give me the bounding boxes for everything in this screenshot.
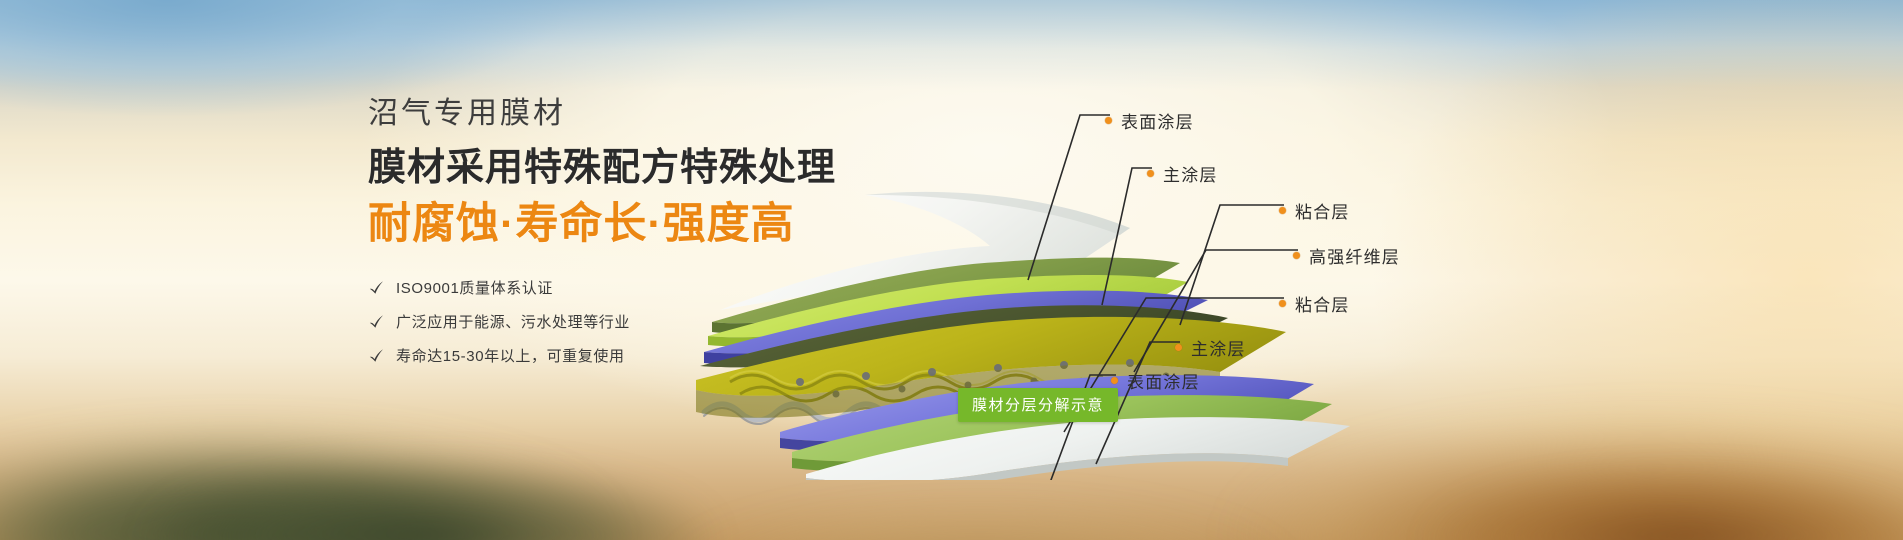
- callout-dot-icon: [1279, 207, 1286, 214]
- callout-label: 表面涂层: [1127, 368, 1200, 393]
- callout-dot-icon: [1279, 300, 1286, 307]
- callout-dot-icon: [1105, 117, 1112, 124]
- callout-surface-coating-bottom: 表面涂层: [1111, 368, 1200, 393]
- callout-label: 粘合层: [1295, 198, 1350, 223]
- leader-line-adhesive-top: [1180, 205, 1284, 325]
- check-mark-icon: [368, 314, 385, 331]
- callout-dot-icon: [1147, 170, 1154, 177]
- callout-main-coating-top: 主涂层: [1147, 161, 1218, 186]
- callout-dot-icon: [1293, 252, 1300, 259]
- background-hill-left-2: [120, 410, 740, 540]
- callout-label: 粘合层: [1295, 291, 1350, 316]
- callout-fiber-core: 高强纤维层: [1293, 243, 1400, 268]
- leader-line-surface-coating-top: [1028, 115, 1110, 280]
- callout-main-coating-bottom: 主涂层: [1175, 335, 1246, 360]
- callout-label: 主涂层: [1191, 335, 1246, 360]
- list-item-label: ISO9001质量体系认证: [396, 281, 553, 296]
- callout-adhesive-top: 粘合层: [1279, 198, 1350, 223]
- callout-group: 表面涂层 主涂层 粘合层 高强纤维层 粘合层 主涂层 表面涂层: [660, 60, 1820, 480]
- callout-dot-icon: [1111, 377, 1118, 384]
- callout-adhesive-bottom: 粘合层: [1279, 291, 1350, 316]
- callout-label: 表面涂层: [1121, 108, 1194, 133]
- promo-banner: 沼气专用膜材 膜材采用特殊配方特殊处理 耐腐蚀·寿命长·强度高 ISO9001质…: [0, 0, 1903, 540]
- callout-label: 主涂层: [1163, 161, 1218, 186]
- list-item-label: 寿命达15-30年以上，可重复使用: [396, 349, 625, 364]
- check-mark-icon: [368, 280, 385, 297]
- check-mark-icon: [368, 348, 385, 365]
- callout-dot-icon: [1175, 344, 1182, 351]
- list-item-label: 广泛应用于能源、污水处理等行业: [396, 315, 630, 330]
- diagram-caption-badge: 膜材分层分解示意: [958, 388, 1118, 422]
- callout-surface-coating-top: 表面涂层: [1105, 108, 1194, 133]
- callout-label: 高强纤维层: [1309, 243, 1400, 268]
- leader-line-main-coating-top: [1102, 168, 1152, 305]
